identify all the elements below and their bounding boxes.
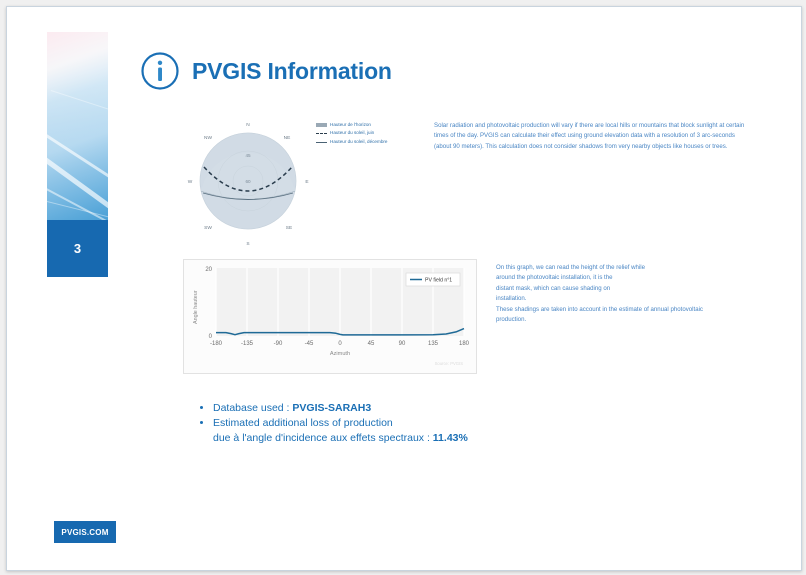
slide-page: 3 PVGIS Information 45	[6, 6, 802, 571]
x-tick--45: -45	[305, 341, 314, 347]
graph-text-line-3: distant mask, which can cause shading on	[496, 284, 746, 294]
compass-label-nw: NW	[204, 135, 212, 141]
polar-plot-svg: 45 60 N NE E SE S SW W NW	[183, 111, 313, 251]
x-tick--180: -180	[210, 341, 223, 347]
horizon-polar-chart: 45 60 N NE E SE S SW W NW Hauteur de l'h…	[183, 111, 423, 251]
chart-legend-label: PV field n°1	[425, 278, 452, 284]
bullet-database-used: Database used : PVGIS-SARAH3	[213, 401, 468, 415]
database-used-value: PVGIS-SARAH3	[292, 402, 371, 414]
loss-text-line-1: Estimated additional loss of production	[213, 416, 468, 430]
info-circle-icon	[140, 51, 180, 91]
compass-label-s: S	[246, 241, 249, 247]
y-tick-0: 0	[209, 334, 213, 340]
x-tick-0: 0	[338, 341, 342, 347]
x-tick--135: -135	[241, 341, 254, 347]
graph-text-line-5: These shadings are taken into account in…	[496, 305, 746, 315]
summary-bullets: Database used : PVGIS-SARAH3 Estimated a…	[199, 401, 468, 446]
legend-label-horizon: Hauteur de l'horizon	[330, 121, 371, 129]
polar-ring-label-60: 60	[245, 179, 251, 184]
x-tick--90: -90	[274, 341, 283, 347]
legend-item-sun-december: Hauteur du soleil, décembre	[316, 138, 387, 146]
azimuth-plot-svg: 20 0 Angle hauteur -180 -135 -90 -45 0 4…	[184, 260, 474, 371]
polar-ring-label-45: 45	[245, 153, 251, 158]
azimuth-profile-chart: 20 0 Angle hauteur -180 -135 -90 -45 0 4…	[183, 259, 477, 374]
x-tick-90: 90	[399, 341, 406, 347]
x-tick-180: 180	[459, 341, 470, 347]
x-tick-45: 45	[368, 341, 375, 347]
legend-swatch-solid-icon	[316, 142, 327, 143]
compass-label-e: E	[305, 179, 308, 185]
page-header: PVGIS Information	[140, 51, 392, 91]
y-tick-20: 20	[205, 267, 212, 273]
loss-value: 11.43%	[433, 432, 468, 444]
compass-label-n: N	[246, 122, 250, 128]
database-used-label: Database used :	[213, 402, 292, 414]
sidebar: 3	[47, 32, 108, 277]
x-axis-label: Azimuth	[330, 351, 350, 357]
graph-text-line-2: around the photovoltaic installation, it…	[496, 273, 746, 283]
graph-text-line-1: On this graph, we can read the height of…	[496, 263, 746, 273]
graph-description-paragraph: On this graph, we can read the height of…	[496, 263, 746, 326]
y-axis-label: Angle hauteur	[193, 290, 199, 324]
sidebar-decorative-image	[47, 32, 108, 220]
legend-item-sun-june: Hauteur du soleil, juin	[316, 129, 387, 137]
legend-item-horizon: Hauteur de l'horizon	[316, 121, 387, 129]
compass-label-ne: NE	[284, 135, 291, 141]
polar-chart-legend: Hauteur de l'horizon Hauteur du soleil, …	[316, 121, 387, 146]
graph-text-line-4: installation.	[496, 294, 746, 304]
compass-label-sw: SW	[204, 225, 212, 231]
graph-text-line-6: production.	[496, 315, 746, 325]
footer-brand-badge[interactable]: PVGIS.COM	[54, 521, 116, 543]
legend-swatch-horizon-icon	[316, 123, 327, 127]
legend-swatch-dashed-icon	[316, 133, 327, 134]
page-title: PVGIS Information	[192, 58, 392, 85]
horizon-description-paragraph: Solar radiation and photovoltaic product…	[434, 121, 748, 152]
compass-label-se: SE	[286, 225, 292, 231]
legend-label-sun-december: Hauteur du soleil, décembre	[330, 138, 387, 146]
compass-label-w: W	[188, 179, 193, 185]
legend-label-sun-june: Hauteur du soleil, juin	[330, 129, 374, 137]
bullet-additional-loss: Estimated additional loss of production …	[213, 416, 468, 445]
sidebar-page-number: 3	[47, 220, 108, 277]
loss-text-line-2: due à l'angle d'incidence aux effets spe…	[213, 432, 433, 444]
loss-text-line-2-wrapper: due à l'angle d'incidence aux effets spe…	[213, 431, 468, 445]
x-tick-135: 135	[428, 341, 439, 347]
chart-watermark: Source: PVGIS	[435, 361, 464, 366]
